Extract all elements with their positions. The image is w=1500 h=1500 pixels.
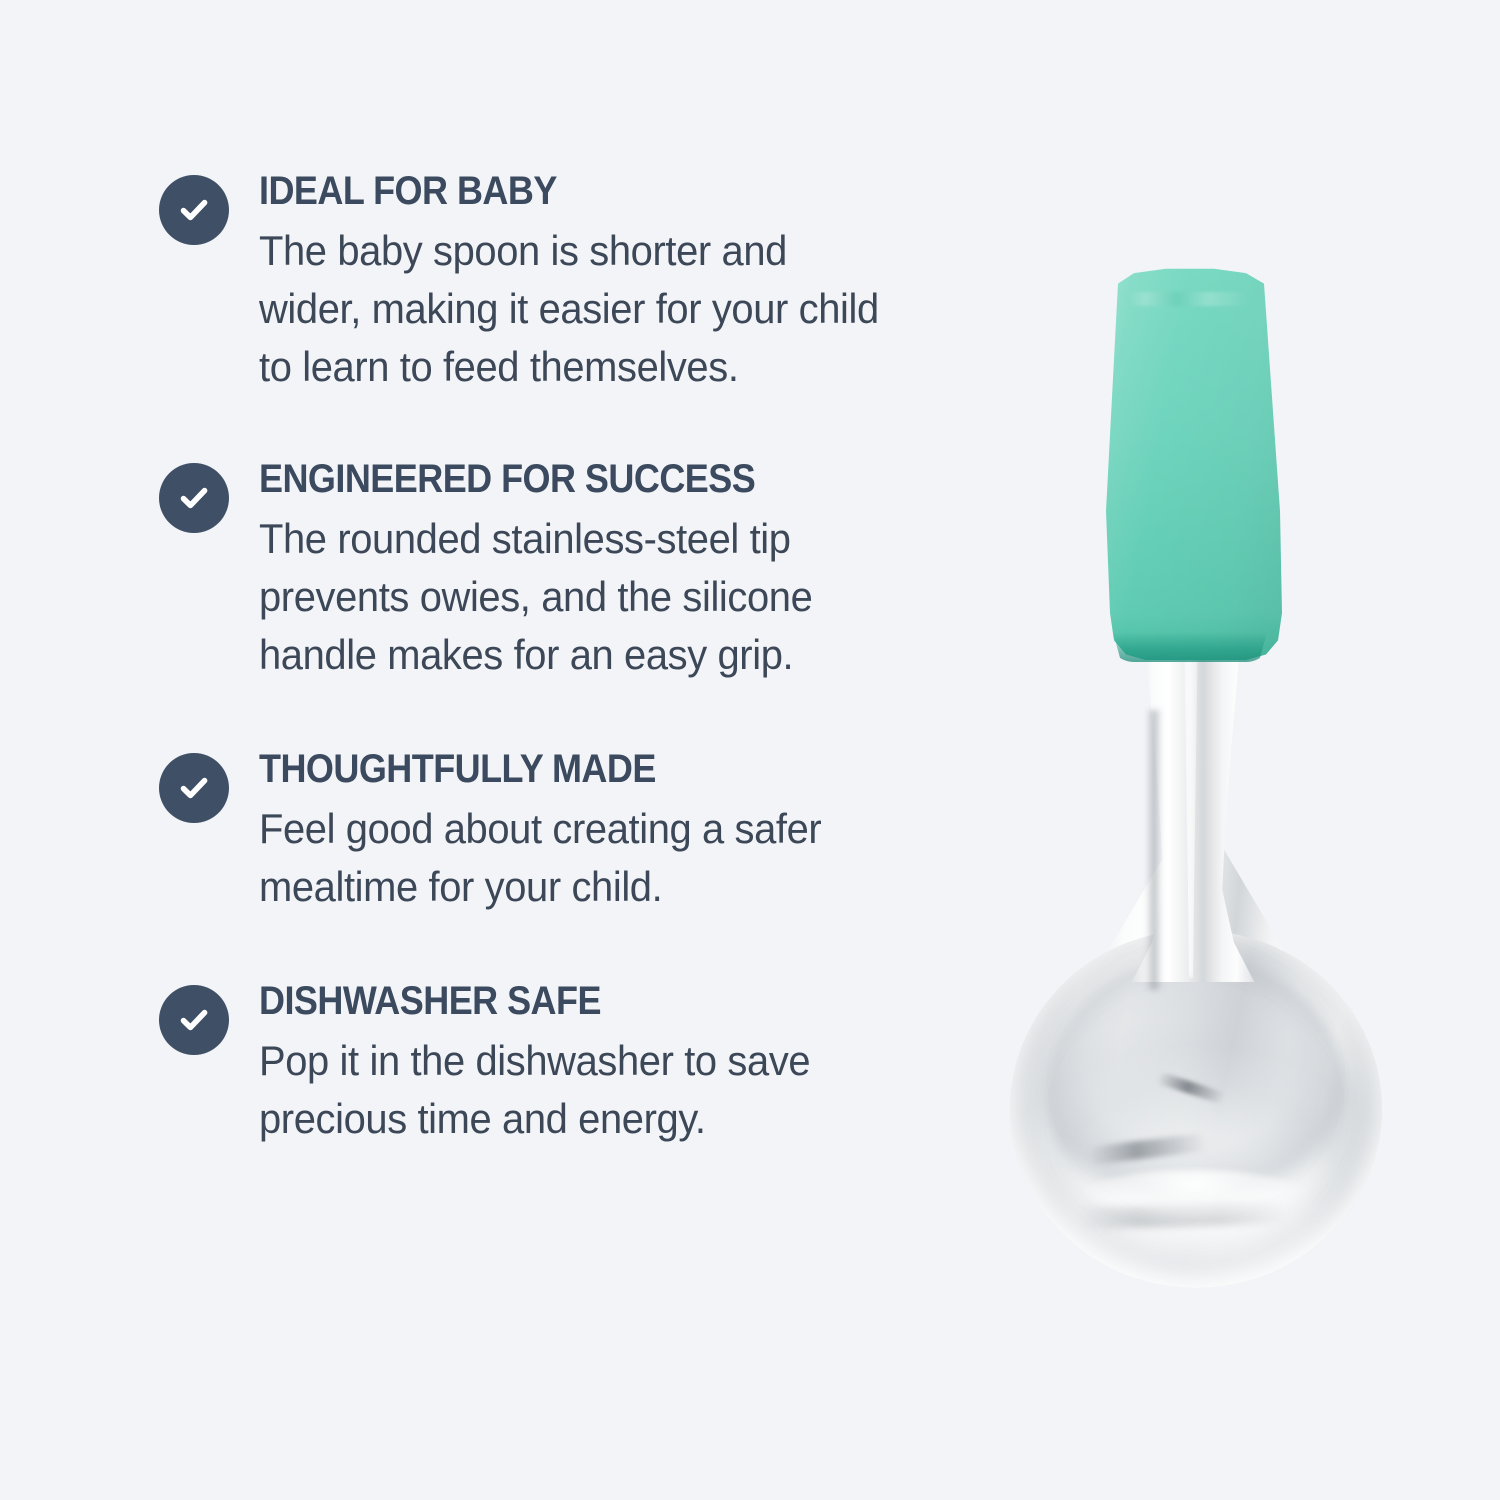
spoon-handle-embossed-brand — [1128, 292, 1250, 306]
check-circle-icon — [159, 463, 229, 533]
feature-title: IDEAL FOR BABY — [259, 168, 853, 214]
feature-body: The baby spoon is shorter and wider, mak… — [259, 222, 886, 396]
feature-body: Feel good about creating a safer mealtim… — [259, 800, 886, 916]
product-feature-infographic: IDEAL FOR BABY The baby spoon is shorter… — [0, 0, 1500, 1500]
feature-body: Pop it in the dishwasher to save preciou… — [259, 1032, 886, 1148]
feature-title: ENGINEERED FOR SUCCESS — [259, 456, 853, 502]
feature-body: The rounded stainless-steel tip prevents… — [259, 510, 886, 684]
feature-title: THOUGHTFULLY MADE — [259, 746, 853, 792]
feature-item-ideal-for-baby: IDEAL FOR BABY The baby spoon is shorter… — [159, 168, 919, 396]
feature-list: IDEAL FOR BABY The baby spoon is shorter… — [159, 168, 919, 1148]
check-circle-icon — [159, 753, 229, 823]
product-image-baby-spoon — [960, 240, 1430, 1320]
spoon-handle-lip — [1108, 632, 1272, 662]
check-circle-icon — [159, 985, 229, 1055]
feature-item-engineered-for-success: ENGINEERED FOR SUCCESS The rounded stain… — [159, 456, 919, 684]
feature-item-dishwasher-safe: DISHWASHER SAFE Pop it in the dishwasher… — [159, 978, 919, 1148]
spoon-silicone-handle — [1090, 268, 1290, 660]
feature-item-thoughtfully-made: THOUGHTFULLY MADE Feel good about creati… — [159, 746, 919, 916]
check-circle-icon — [159, 175, 229, 245]
spoon-shaft-shadow — [1146, 710, 1162, 990]
feature-title: DISHWASHER SAFE — [259, 978, 853, 1024]
spoon-bowl-rim — [1010, 930, 1382, 1288]
